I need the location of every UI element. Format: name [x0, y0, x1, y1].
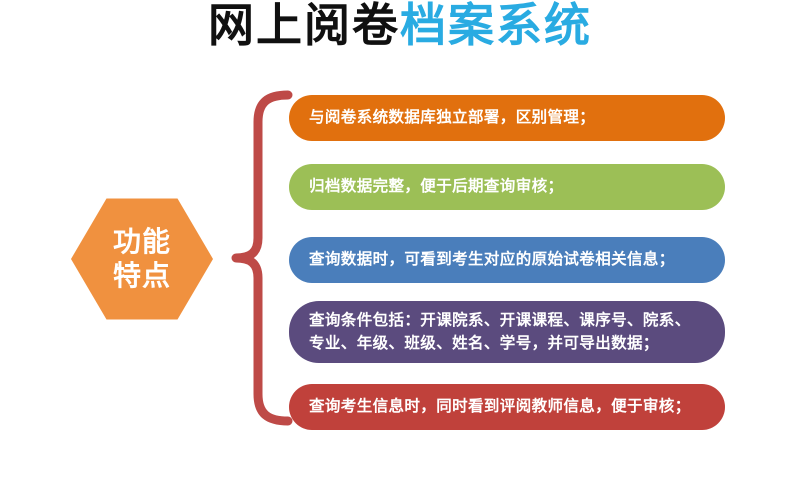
feature-bar-3-line-1: 查询数据时，可看到考生对应的原始试卷相关信息；: [309, 248, 705, 271]
feature-bar-1-line-1: 与阅卷系统数据库独立部署，区别管理；: [309, 106, 705, 129]
feature-bar-2[interactable]: 归档数据完整，便于后期查询审核；: [289, 164, 725, 210]
feature-bar-2-text: 归档数据完整，便于后期查询审核；: [309, 175, 705, 198]
page-title-accent: 档案系统: [400, 0, 592, 51]
feature-bar-2-line-1: 归档数据完整，便于后期查询审核；: [309, 175, 705, 198]
feature-bar-5-line-1: 查询考生信息时，同时看到评阅教师信息，便于审核；: [309, 395, 705, 418]
feature-bar-5[interactable]: 查询考生信息时，同时看到评阅教师信息，便于审核；: [289, 384, 725, 430]
curly-brace-icon: [210, 88, 296, 428]
feature-bar-3[interactable]: 查询数据时，可看到考生对应的原始试卷相关信息；: [289, 237, 725, 283]
hexagon-label-line1: 功能: [113, 225, 171, 259]
feature-bar-3-text: 查询数据时，可看到考生对应的原始试卷相关信息；: [309, 248, 705, 271]
feature-bar-5-text: 查询考生信息时，同时看到评阅教师信息，便于审核；: [309, 395, 705, 418]
features-hexagon-badge: 功能 特点: [71, 196, 213, 322]
slide-canvas: 网上阅卷档案系统 功能 特点 与阅卷系统数据库独立部署，区别管理； 归档数据完整…: [0, 0, 800, 496]
feature-bar-4-text: 查询条件包括：开课院系、开课课程、课序号、院系、 专业、年级、班级、姓名、学号，…: [309, 309, 705, 356]
feature-bar-1[interactable]: 与阅卷系统数据库独立部署，区别管理；: [289, 95, 725, 141]
feature-bar-4-line-2: 专业、年级、班级、姓名、学号，并可导出数据；: [309, 332, 705, 355]
hexagon-label-line2: 特点: [113, 259, 171, 293]
feature-bar-4[interactable]: 查询条件包括：开课院系、开课课程、课序号、院系、 专业、年级、班级、姓名、学号，…: [289, 301, 725, 363]
page-title: 网上阅卷档案系统: [0, 2, 800, 48]
hexagon-label: 功能 特点: [71, 196, 213, 322]
feature-bar-4-line-1: 查询条件包括：开课院系、开课课程、课序号、院系、: [309, 309, 705, 332]
page-title-primary: 网上阅卷: [208, 0, 400, 51]
feature-bar-1-text: 与阅卷系统数据库独立部署，区别管理；: [309, 106, 705, 129]
